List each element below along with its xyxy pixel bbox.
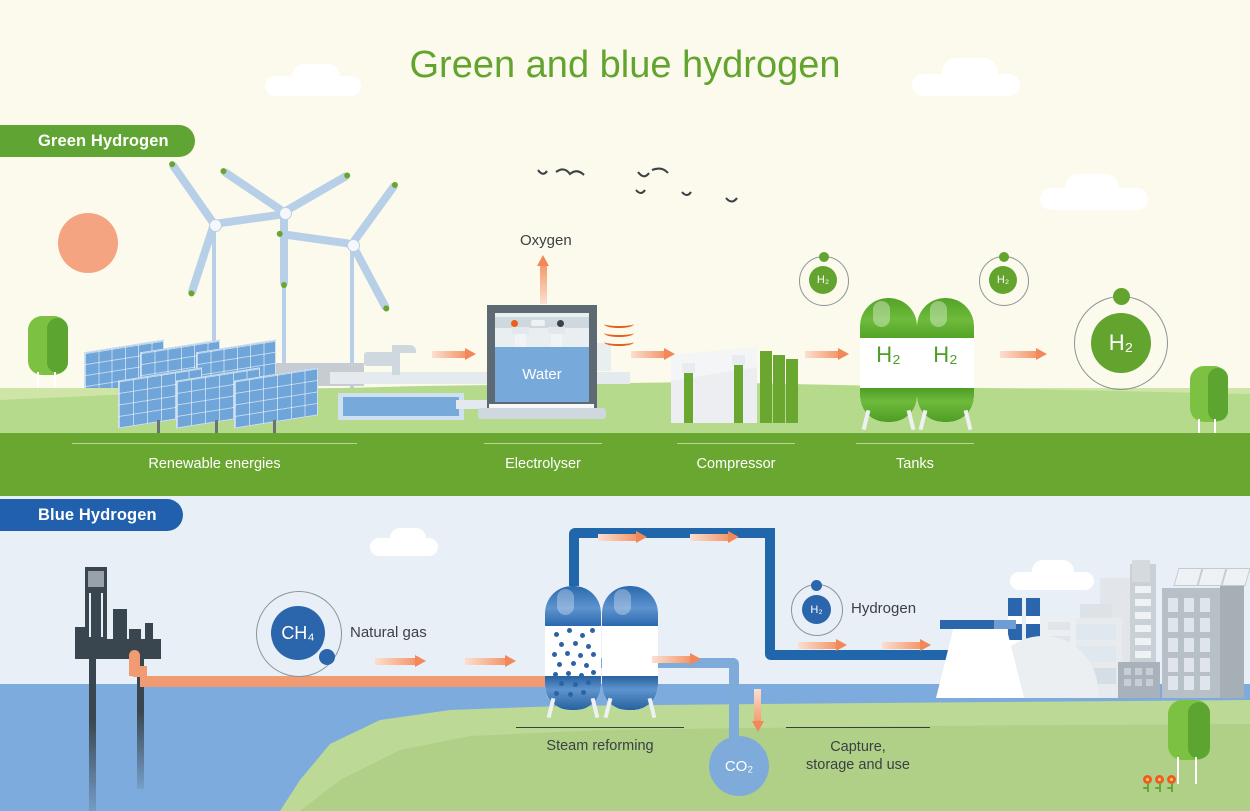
- building-icon: [1135, 668, 1142, 675]
- atom-electron: [999, 252, 1009, 262]
- blue-hydrogen-tag: Blue Hydrogen: [0, 499, 183, 531]
- building-icon: [1184, 618, 1194, 632]
- building-icon: [1124, 679, 1131, 686]
- bird-icon: [520, 158, 750, 208]
- capture-label-line2: storage and use: [806, 757, 910, 773]
- atom-electron: [319, 649, 335, 665]
- building-icon: [1168, 676, 1178, 690]
- arrow-right-icon: [805, 348, 849, 360]
- atom-electron: [811, 580, 822, 591]
- building-icon: [1168, 618, 1178, 632]
- stage-label-capture-storage-use: Capture, storage and use: [780, 738, 936, 774]
- water-label: Water: [495, 347, 589, 402]
- arrow-right-icon: [375, 655, 427, 667]
- atom-electron: [1113, 288, 1130, 305]
- arrow-right-icon: [798, 639, 848, 651]
- arrow-down-icon: [752, 690, 764, 732]
- green-hydrogen-tag: Green Hydrogen: [0, 125, 195, 157]
- building-icon: [1184, 638, 1194, 652]
- building-icon: [1184, 658, 1194, 672]
- arrow-up-icon: [537, 255, 549, 303]
- stage-label-tanks: Tanks: [856, 456, 974, 472]
- building-icon: [1135, 679, 1142, 686]
- atom-icon: H₂: [799, 256, 849, 306]
- building-icon: [1220, 584, 1244, 698]
- smokestack-icon: [1026, 598, 1040, 616]
- atom-nucleus: CH₄: [271, 606, 325, 660]
- atom-icon: H₂: [1074, 296, 1168, 390]
- building-icon: [1076, 624, 1116, 640]
- stage-divider: [516, 727, 684, 728]
- natural-gas-formula: CH₄: [281, 623, 314, 644]
- hydrogen-pipe: [765, 545, 775, 655]
- hydrogen-tank-icon: H₂: [917, 298, 974, 422]
- compressor-icon: [668, 345, 798, 423]
- arrow-right-icon: [465, 655, 517, 667]
- infographic-canvas: Green and blue hydrogen Green Hydrogen: [0, 0, 1250, 811]
- stage-divider: [856, 443, 974, 444]
- oil-rig-icon: [75, 567, 185, 811]
- building-icon: [1135, 651, 1151, 658]
- page-title: Green and blue hydrogen: [0, 44, 1250, 87]
- building-icon: [1200, 598, 1210, 612]
- atom-nucleus: H₂: [802, 595, 831, 624]
- stage-label-steam-reforming: Steam reforming: [516, 738, 684, 754]
- tree-icon: [28, 316, 68, 398]
- hydrogen-formula: H₂: [810, 604, 822, 616]
- building-icon: [1168, 598, 1178, 612]
- hydrogen-pipe: [569, 538, 579, 586]
- sun-icon: [58, 213, 118, 273]
- stage-divider: [484, 443, 602, 444]
- atom-icon: H₂: [979, 256, 1029, 306]
- arrow-right-icon: [652, 653, 702, 665]
- building-icon: [1200, 676, 1210, 690]
- co2-label: CO₂: [725, 758, 753, 775]
- stage-divider: [72, 443, 357, 444]
- heat-waves-icon: [604, 320, 636, 346]
- atom-icon: H₂: [791, 584, 843, 636]
- atom-electron: [819, 252, 829, 262]
- building-icon: [1048, 622, 1070, 630]
- stage-label-electrolyser: Electrolyser: [484, 456, 602, 472]
- electrolyser-icon: Water: [487, 305, 597, 423]
- water-basin: [338, 393, 464, 420]
- building-icon: [1200, 618, 1210, 632]
- arrow-right-icon: [631, 348, 675, 360]
- co2-bubble-icon: CO₂: [709, 736, 769, 796]
- arrow-right-icon: [1000, 348, 1048, 360]
- stage-divider: [677, 443, 795, 444]
- reformer-tank-icon: [602, 586, 658, 710]
- arrow-right-icon: [882, 639, 932, 651]
- solar-panel-icon: [1221, 568, 1250, 586]
- hydrogen-tank-label: H₂: [860, 342, 917, 368]
- cloud-icon: [1065, 174, 1119, 200]
- arrow-right-icon: [690, 531, 740, 543]
- building-icon: [1135, 612, 1151, 619]
- reformer-tank-icon: [545, 586, 601, 710]
- co2-pipe: [729, 658, 739, 748]
- atom-nucleus: H₂: [809, 266, 837, 294]
- building-icon: [1184, 598, 1194, 612]
- stage-divider: [786, 727, 930, 728]
- oxygen-label: Oxygen: [520, 232, 572, 249]
- natural-gas-label: Natural gas: [350, 624, 427, 641]
- stage-label-renewable-energies: Renewable energies: [72, 456, 357, 472]
- tree-icon: [1168, 700, 1210, 784]
- building-icon: [1146, 679, 1153, 686]
- collector-pipe-elbow: [392, 345, 416, 353]
- building-icon: [1146, 668, 1153, 675]
- capture-label-line1: Capture,: [830, 739, 886, 755]
- hydrogen-tank-label: H₂: [917, 342, 974, 368]
- building-icon: [1135, 625, 1151, 632]
- building-icon: [1184, 676, 1194, 690]
- atom-nucleus: H₂: [989, 266, 1017, 294]
- hydrogen-tank-icon: H₂: [860, 298, 917, 422]
- building-icon: [1135, 586, 1151, 593]
- arrow-right-icon: [432, 348, 476, 360]
- building-icon: [1200, 658, 1210, 672]
- building-icon: [1135, 599, 1151, 606]
- building-icon: [1168, 638, 1178, 652]
- atom-label: H₂: [817, 274, 829, 286]
- hydrogen-label: Hydrogen: [851, 600, 916, 617]
- building-icon: [1132, 560, 1150, 582]
- solar-panel-icon: [234, 374, 316, 420]
- atom-label: H₂: [1109, 330, 1133, 356]
- stage-label-compressor: Compressor: [677, 456, 795, 472]
- building-icon: [1168, 658, 1178, 672]
- smokestack-icon: [1008, 598, 1022, 616]
- plant-pipe: [994, 620, 1016, 629]
- atom-icon: CH₄: [256, 591, 342, 677]
- atom-nucleus: H₂: [1091, 313, 1151, 373]
- atom-label: H₂: [997, 274, 1009, 286]
- natural-gas-pipeline: [140, 676, 560, 687]
- building-icon: [1200, 638, 1210, 652]
- building-icon: [1135, 638, 1151, 645]
- cloud-icon: [390, 528, 426, 548]
- building-icon: [1124, 668, 1131, 675]
- arrow-right-icon: [598, 531, 648, 543]
- flower-icon: [1143, 775, 1187, 799]
